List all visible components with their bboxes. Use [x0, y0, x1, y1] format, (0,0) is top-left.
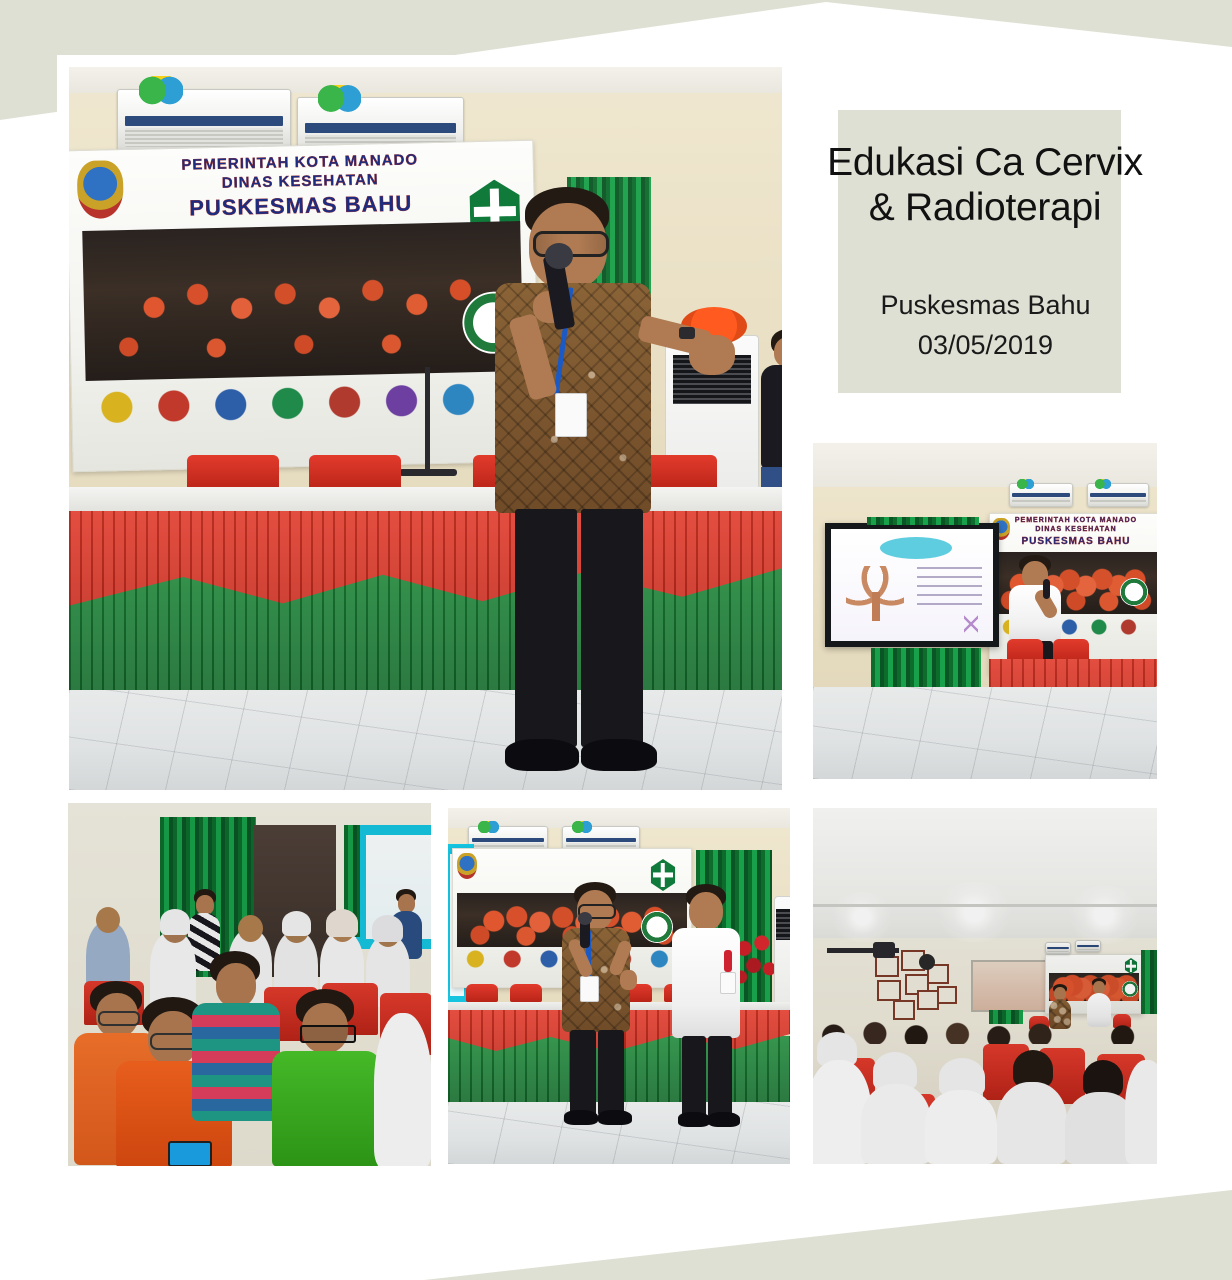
slide-content — [831, 529, 993, 641]
photo-frame-room-wide — [805, 800, 1165, 1172]
chair — [187, 455, 279, 491]
photo-frame-projector-presentation: PEMERINTAH KOTA MANADO DINAS KESEHATAN P… — [805, 435, 1165, 787]
photo-audience-closeup — [68, 803, 431, 1166]
green-curtain — [871, 648, 981, 690]
chair — [510, 984, 542, 1002]
green-curtain — [867, 517, 979, 525]
subtitle-date: 03/05/2019 — [828, 325, 1143, 365]
microphone-stand — [425, 367, 430, 475]
air-conditioner-icon — [1009, 483, 1073, 507]
tiled-floor — [813, 687, 1157, 779]
microphone-stand-base — [399, 469, 457, 476]
banner-line-3: PUSKESMAS BAHU — [990, 536, 1157, 547]
banner-line-1: PEMERINTAH KOTA MANADO — [990, 517, 1157, 524]
accreditation-seal-icon — [1120, 578, 1148, 606]
projection-screen — [825, 523, 999, 647]
title-line-1: Edukasi Ca Cervix — [820, 140, 1150, 185]
photo-room-wide — [813, 808, 1157, 1164]
title-line-2: & Radioterapi — [820, 185, 1150, 230]
city-crest-icon — [457, 853, 477, 879]
air-conditioner-icon — [1087, 483, 1149, 507]
air-conditioner-icon — [117, 89, 291, 153]
photo-two-presenters — [448, 808, 790, 1164]
photo-frame-audience-closeup — [57, 792, 442, 1177]
photo-frame-two-presenters — [440, 800, 798, 1172]
air-cooler — [774, 896, 790, 1018]
chair — [466, 984, 498, 1002]
id-badge — [555, 393, 587, 437]
subtitle-block: Puskesmas Bahu 03/05/2019 — [828, 285, 1143, 365]
photo-frame-main-speaker: PEMERINTAH KOTA MANADO DINAS KESEHATAN P… — [57, 55, 794, 802]
chair — [309, 455, 401, 491]
presenter-whitecoat-person — [666, 884, 750, 1132]
photo-projector-presentation: PEMERINTAH KOTA MANADO DINAS KESEHATAN P… — [813, 443, 1157, 779]
photo-main-speaker: PEMERINTAH KOTA MANADO DINAS KESEHATAN P… — [69, 67, 782, 790]
subtitle-venue: Puskesmas Bahu — [828, 285, 1143, 325]
banner-line-2: DINAS KESEHATAN — [990, 526, 1157, 533]
presenter-batik-person — [552, 882, 644, 1132]
main-speaker-person — [457, 187, 737, 790]
page-title: Edukasi Ca Cervix & Radioterapi — [820, 140, 1150, 230]
poster-canvas: PEMERINTAH KOTA MANADO DINAS KESEHATAN P… — [0, 0, 1232, 1280]
